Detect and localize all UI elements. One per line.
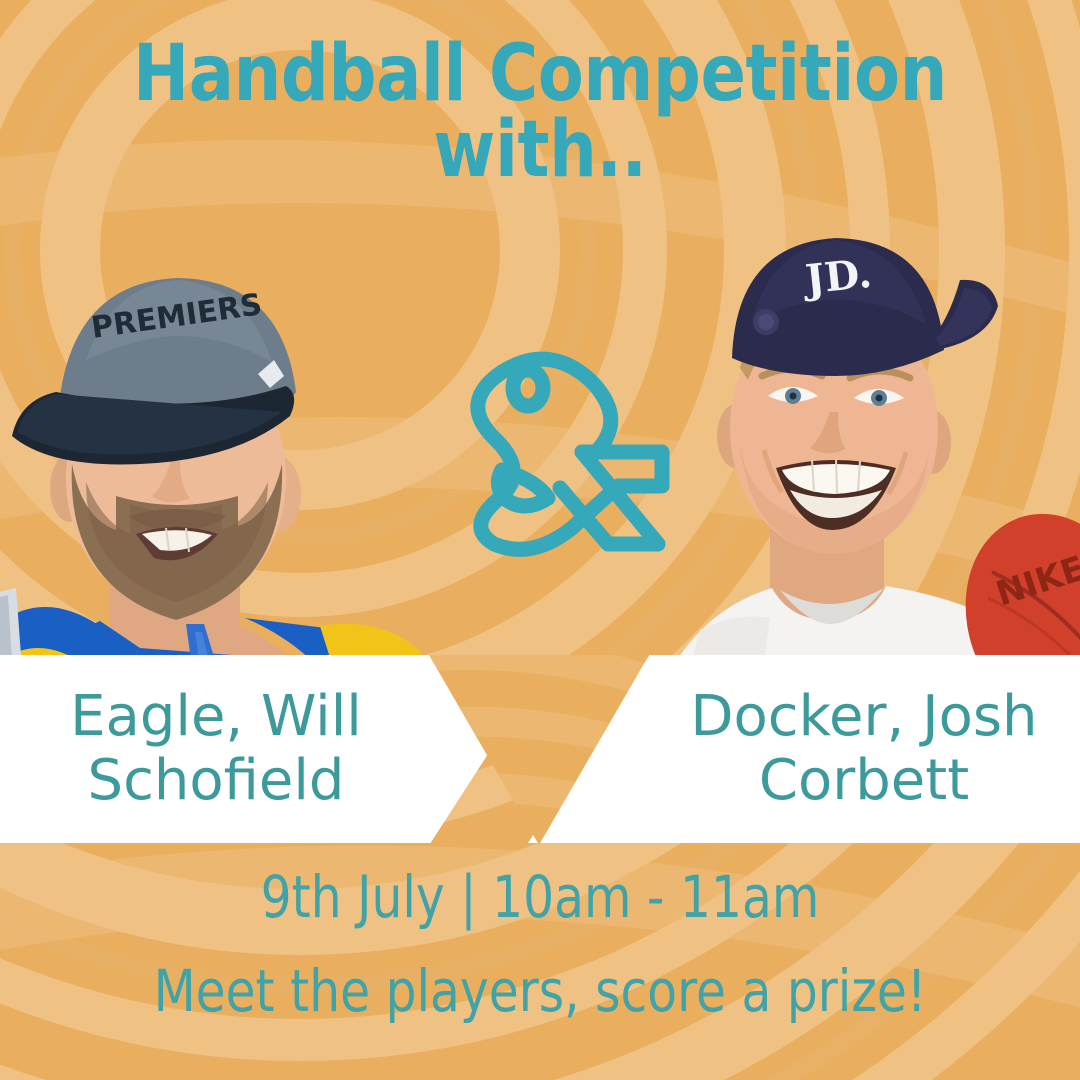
player-name-left-line-1: Eagle, Will bbox=[0, 685, 432, 749]
player-photo-left-illustration: PREMIERS bbox=[0, 196, 460, 696]
player-photo-right-illustration: NIKE bbox=[640, 200, 1080, 690]
promo-poster: PREMIERS NIKE bbox=[0, 0, 1080, 1080]
player-name-left-line-2: Schofield bbox=[0, 749, 432, 813]
player-name-right-line-1: Docker, Josh bbox=[648, 685, 1080, 749]
player-photo-left: PREMIERS bbox=[0, 196, 460, 696]
event-tagline: Meet the players, score a prize! bbox=[86, 962, 993, 1020]
player-photo-right: NIKE bbox=[640, 200, 1080, 690]
cap-logo-dockers: JD. bbox=[800, 250, 874, 304]
ampersand-graphic bbox=[432, 330, 682, 565]
event-datetime: 9th July | 10am - 11am bbox=[86, 868, 993, 926]
player-name-right-line-2: Corbett bbox=[648, 749, 1080, 813]
ampersand-icon bbox=[432, 330, 682, 565]
